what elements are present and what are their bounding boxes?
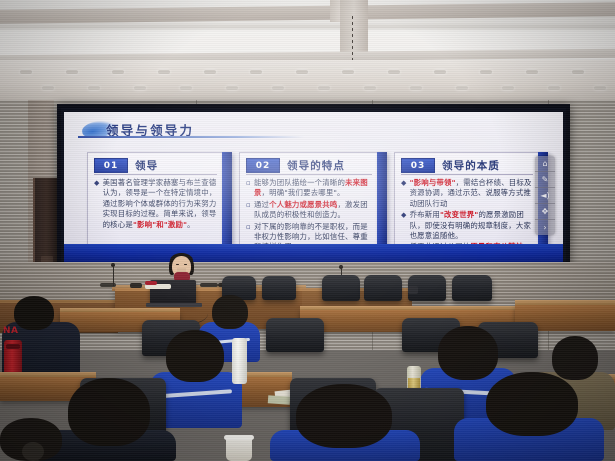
card-03-header-rule — [401, 174, 533, 175]
green-note — [268, 395, 291, 405]
person-front-short-head — [68, 378, 150, 446]
card-03-header: 03 领导的本质 — [401, 158, 500, 173]
ceiling-downlight — [204, 70, 216, 74]
row2-chair-2[interactable] — [266, 318, 324, 352]
ceiling-downlight — [272, 86, 284, 90]
person-khaki-head — [552, 336, 598, 380]
ceiling-soffit — [0, 60, 615, 104]
ceiling-downlight — [548, 86, 560, 90]
ceiling-downlight — [88, 86, 100, 90]
ceiling-downlight — [318, 86, 330, 90]
bullet-text: 乔布斯用"改变世界"的愿景激励团队，即使没有明确的规章制度，大家也愿意追随他。 — [410, 210, 534, 241]
ceiling-downlight — [410, 86, 422, 90]
podium-remote — [130, 283, 142, 288]
bullet-plain: 乔布斯用 — [410, 210, 440, 219]
card-03-heading: 领导的本质 — [442, 158, 500, 173]
bullet-text: 能够为团队描绘一个清晰的未来图景，明确"我们要去哪里"。 — [254, 178, 373, 199]
card-01-header-rule — [94, 174, 217, 175]
person-blue-1-head — [212, 295, 248, 329]
jacket-text: NA — [3, 326, 19, 336]
ceiling-downlight — [250, 70, 262, 74]
ceiling-downlight — [134, 86, 146, 90]
slide-bottom-band — [64, 244, 563, 264]
ceiling-downlight — [502, 86, 514, 90]
bullet-marker-icon: ◆ — [401, 210, 407, 241]
stage-chair-6[interactable] — [262, 276, 296, 300]
slide-title-row: 领导与领导力 — [82, 120, 382, 144]
slide-bullet: ◆"影响与带领"，需结合杯绩、目标及资源协调，通过示范、说服等方式推动团队行动 — [401, 178, 534, 209]
card-01-number: 01 — [94, 158, 128, 173]
bullet-plain: ，明确"我们要去哪里"。 — [262, 188, 345, 197]
ceiling-downlight — [42, 86, 54, 90]
bullet-text: "影响与带领"，需结合杯绩、目标及资源协调，通过示范、说服等方式推动团队行动 — [410, 178, 534, 209]
ceiling-downlight — [342, 70, 354, 74]
red-thermos-cap — [6, 344, 20, 349]
bullet-highlight: "改变世界" — [440, 210, 478, 219]
ceiling-beam-vertical-thin — [330, 0, 340, 22]
gooseneck-mic-right-head — [339, 265, 343, 269]
card-01-bullets: ◆美国著名管理学家赫塞与布兰查德认为，领导是一个在特定情境中，通过影响个体或群体… — [94, 178, 218, 231]
bullet-plain: 通过 — [254, 200, 269, 209]
presentation-slide: 领导与领导力 01 领导 ◆美国著名管理学家赫塞与布兰查德认为，领导是一个在特定… — [64, 112, 563, 264]
ceiling-beam-upper — [0, 2, 615, 24]
bullet-highlight: "影响"和"激励" — [133, 220, 187, 229]
slide-title-underline — [78, 136, 304, 138]
podium-clicker — [200, 283, 218, 287]
slide-bullet: ▫能够为团队描绘一个清晰的未来图景，明确"我们要去哪里"。 — [246, 178, 373, 199]
gooseneck-mic-left-head — [111, 263, 115, 267]
home-icon[interactable]: ⌂ — [535, 156, 555, 172]
ceiling-downlight — [434, 70, 446, 74]
laser-pointer-icon[interactable]: ✥ — [535, 204, 555, 220]
ceiling-downlight — [226, 86, 238, 90]
hair-clip — [22, 442, 44, 461]
gooseneck-mic-left — [113, 266, 114, 286]
bullet-marker-icon: ◆ — [401, 178, 407, 209]
ceiling-downlight — [388, 70, 400, 74]
bullet-marker-icon: ▫ — [246, 178, 251, 199]
stage-chair-1[interactable] — [322, 275, 360, 301]
projection-screen: 领导与领导力 01 领导 ◆美国著名管理学家赫塞与布兰查德认为，领导是一个在特定… — [57, 104, 570, 272]
white-water-bottle[interactable] — [232, 338, 247, 384]
person-blue-right-head — [438, 326, 498, 380]
ceiling-downlight — [112, 70, 124, 74]
podium-red-folder — [145, 281, 157, 285]
ceiling-downlight — [66, 70, 78, 74]
person-front-right-head — [486, 372, 578, 436]
person-dark-head — [14, 296, 54, 330]
person-bun-head — [166, 330, 224, 382]
card-02-side-panel — [377, 152, 387, 248]
bullet-marker-icon: ◆ — [94, 178, 100, 230]
bullet-marker-icon: ▫ — [246, 200, 251, 221]
card-01-heading: 领导 — [135, 158, 158, 173]
slide-card-03: 03 领导的本质 ◆"影响与带领"，需结合杯绩、目标及资源协调，通过示范、说服等… — [394, 152, 540, 250]
paper-cup[interactable] — [226, 437, 252, 461]
bullet-plain: 。 — [187, 220, 195, 229]
ceiling-downlight — [158, 70, 170, 74]
audio-icon[interactable]: ◄) — [535, 188, 555, 204]
card-01-side-panel — [222, 152, 232, 248]
paper-cup-rim — [224, 435, 254, 440]
pen-icon[interactable]: ✎ — [535, 172, 555, 188]
bullet-text: 美国著名管理学家赫塞与布兰查德认为，领导是一个在特定情境中，通过影响个体或群体的… — [103, 178, 218, 230]
ceiling-downlight — [364, 86, 376, 90]
card-03-number: 03 — [401, 158, 435, 173]
slide-bullet: ◆乔布斯用"改变世界"的愿景激励团队，即使没有明确的规章制度，大家也愿意追随他。 — [401, 210, 534, 241]
stage-device — [408, 286, 418, 294]
card-02-heading: 领导的特点 — [287, 158, 345, 173]
card-02-bullets: ▫能够为团队描绘一个清晰的未来图景，明确"我们要去哪里"。▫通过个人魅力或愿景共… — [246, 178, 373, 254]
card-02-header-rule — [246, 174, 372, 175]
ceiling-downlight — [180, 86, 192, 90]
next-slide-icon[interactable]: › — [535, 220, 555, 235]
bullet-highlight: 个人魅力或愿景共鸣 — [269, 200, 337, 209]
card-02-header: 02 领导的特点 — [246, 158, 345, 173]
stage-chair-2[interactable] — [364, 275, 402, 301]
ceiling-downlight — [572, 70, 584, 74]
slide-card-02: 02 领导的特点 ▫能够为团队描绘一个清晰的未来图景，明确"我们要去哪里"。▫通… — [239, 152, 379, 250]
ceiling-downlight — [20, 70, 32, 74]
presenter-toolbar[interactable]: ⌂✎◄)✥› — [535, 156, 555, 235]
bullet-highlight: "影响与带领" — [410, 178, 456, 187]
slide-bullet: ▫通过个人魅力或愿景共鸣，激发团队成员的积极性和创造力。 — [246, 200, 373, 221]
conference-room-photo: 领导与领导力 01 领导 ◆美国著名管理学家赫塞与布兰查德认为，领导是一个在特定… — [0, 0, 615, 461]
stage-chair-4[interactable] — [452, 275, 492, 301]
bullet-text: 通过个人魅力或愿景共鸣，激发团队成员的积极性和创造力。 — [254, 200, 373, 221]
ceiling-downlight — [456, 86, 468, 90]
bullet-plain: 能够为团队描绘一个清晰的 — [254, 178, 345, 187]
person-front-center-head — [296, 384, 392, 448]
slide-bullet: ◆美国著名管理学家赫塞与布兰查德认为，领导是一个在特定情境中，通过影响个体或群体… — [94, 178, 218, 230]
card-01-header: 01 领导 — [94, 158, 158, 173]
ceiling-downlight — [296, 70, 308, 74]
ceiling-downlight — [480, 70, 492, 74]
ceiling-downlight — [594, 86, 606, 90]
slide-card-01: 01 领导 ◆美国著名管理学家赫塞与布兰查德认为，领导是一个在特定情境中，通过影… — [87, 152, 224, 250]
ceiling-downlight — [526, 70, 538, 74]
card-02-number: 02 — [246, 158, 280, 173]
